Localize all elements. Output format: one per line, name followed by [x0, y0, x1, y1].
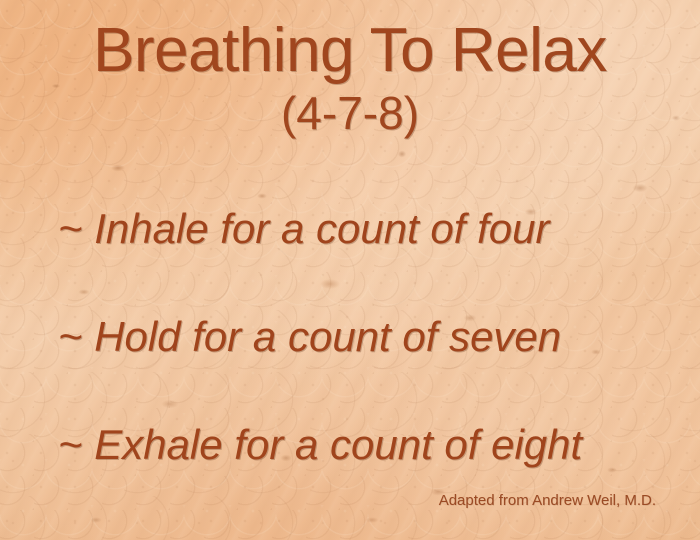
attribution-credit: Adapted from Andrew Weil, M.D.	[439, 492, 656, 509]
slide-canvas: Breathing To Relax (4-7-8) ~ Inhale for …	[0, 0, 700, 540]
breathing-steps-list: ~ Inhale for a count of four ~ Hold for …	[0, 0, 700, 540]
list-item: ~ Hold for a count of seven	[58, 316, 561, 358]
slide-content: Breathing To Relax (4-7-8) ~ Inhale for …	[0, 0, 700, 540]
list-item: ~ Inhale for a count of four	[58, 208, 550, 250]
list-item: ~ Exhale for a count of eight	[58, 424, 582, 466]
